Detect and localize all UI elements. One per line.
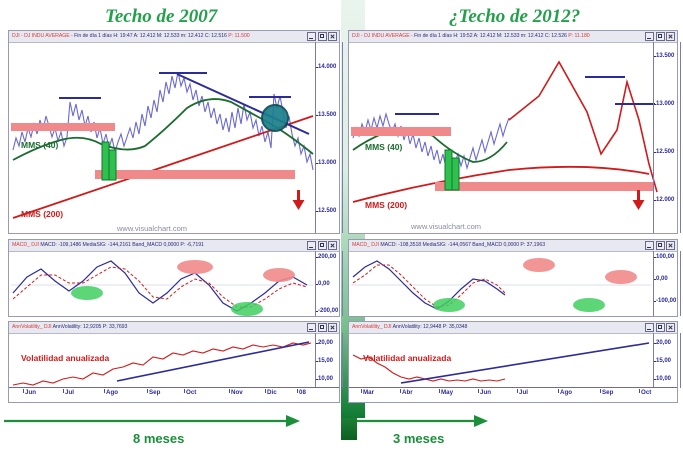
right-price-plot: MMS (40) MMS (200) www.visualchart.com 1… [349,42,677,233]
maximize-icon[interactable] [656,32,665,41]
left-macd-title-text: MACD_ DJI MACD: -109,1486 MediaSIG: -144… [12,240,204,251]
left-xtick: 08 [299,389,306,396]
left-macd-red-ellipse [263,268,295,282]
left-volume-spike-1 [102,142,109,180]
left-vol-yaxis[interactable]: 20,00 15,00 10,00 [315,333,343,388]
left-vol-ytick: 20,00 [318,340,333,346]
left-xtick: Jun [25,389,36,396]
left-vol-ytick: 15,00 [318,358,333,364]
minimize-icon[interactable] [307,241,316,250]
left-price-info: Fin de día 1 días H: 19:47 A: 12.412 M: … [74,33,227,39]
left-price-window-buttons [307,32,337,41]
right-xaxis[interactable]: Mar Abr May Jun Jul Ago Sep Oct [349,387,677,402]
left-price-title-text: DJI - DJ INDU AVERAGE - Fin de día 1 día… [12,31,250,42]
right-xtick: Oct [641,389,651,396]
left-xaxis[interactable]: Jun Jul Ago Sep Oct Nov Dic 08 [9,387,339,402]
left-watermark: www.visualchart.com [117,224,187,233]
right-xtick: Mar [363,389,374,396]
right-macd-window-buttons [645,241,675,250]
left-signal-circle [262,105,288,131]
left-price-ytick: 13.500 [318,112,336,118]
right-xtick: Sep [602,389,613,396]
right-vol-info: AnnVolatility: 12,9448 P: 35,0348 [393,324,468,330]
left-xtick: Dic [267,389,277,396]
left-macd-signal-line [13,267,307,307]
right-vol-label: Volatilidad anualizada [363,353,451,363]
maximize-icon[interactable] [318,323,327,332]
left-macd-window-buttons [307,241,337,250]
left-mms200-label: MMS (200) [21,209,63,219]
left-support-band-lower [95,170,295,179]
right-vol-ytick: 20,00 [656,340,671,346]
right-price-window-buttons [645,32,675,41]
right-xtick: Jun [480,389,491,396]
left-price-ytick: 13.000 [318,160,336,166]
right-watermark: www.visualchart.com [411,222,481,231]
right-price-panel: DJI - DJ INDU AVERAGE - Fin de día 1 día… [348,30,678,234]
right-price-ytick: 13.500 [656,53,674,59]
left-vol-title-text: AnnVolatility_ DJI AnnVolatility: 12,920… [12,322,127,333]
right-vol-symbol: AnnVolatility_ DJI [352,324,391,330]
left-macd-panel: MACD_ DJI MACD: -109,1486 MediaSIG: -144… [8,239,340,317]
maximize-icon[interactable] [656,241,665,250]
left-xtick: Sep [149,389,160,396]
right-volume-spike-1 [445,150,452,190]
right-mms40-label: MMS (40) [365,142,402,152]
close-icon[interactable] [666,241,675,250]
duration-right-label: 3 meses [393,431,444,446]
left-price-symbol: DJI - DJ INDU AVERAGE - [12,33,73,39]
right-price-ytick: 13.000 [656,101,674,107]
right-price-p: P: 11.180 [568,33,589,39]
maximize-icon[interactable] [318,32,327,41]
left-vol-symbol: AnnVolatility_ DJI [12,324,51,330]
left-xtick: Oct [186,389,196,396]
right-macd-signal-line [353,265,505,307]
right-macd-yaxis[interactable]: 100,00 0,00 -100,00 [653,251,681,316]
left-price-plot: MMS (40) MMS (200) www.visualchart.com 1… [9,42,339,233]
right-price-yaxis[interactable]: 13.500 13.000 12.500 12.000 [653,42,681,233]
left-price-panel: DJI - DJ INDU AVERAGE - Fin de día 1 día… [8,30,340,234]
maximize-icon[interactable] [656,323,665,332]
left-macd-ytick: -200,00 [318,308,338,314]
right-macd-red-ellipse [523,258,555,272]
right-macd-plot: 100,00 0,00 -100,00 [349,251,677,316]
close-icon[interactable] [328,323,337,332]
left-xtick: Jul [65,389,74,396]
minimize-icon[interactable] [645,241,654,250]
right-price-ytick: 12.500 [656,149,674,155]
left-vol-trend-line [117,342,309,381]
duration-arrow-left [4,415,300,427]
right-projection-line [509,62,657,192]
left-macd-info: MACD: -109,1486 MediaSIG: -144,2161 Band… [40,242,204,248]
left-price-yaxis[interactable]: 14.000 13.500 13.000 12.500 [315,42,343,233]
left-xtick: Ago [106,389,118,396]
right-macd-ytick: 100,00 [656,254,674,260]
left-price-svg [9,42,341,234]
right-support-band-upper [351,127,451,136]
right-macd-green-ellipse [433,298,465,312]
right-price-title-text: DJI - DJ INDU AVERAGE - Fin de día 1 día… [352,31,590,42]
right-support-band-lower [435,182,653,191]
right-xtick: Ago [560,389,572,396]
right-down-arrow [633,190,645,210]
right-vol-ytick: 10,00 [656,376,671,382]
right-macd-info: MACD: -108,3518 MediaSIG: -144,0567 Band… [380,242,545,248]
left-vol-window-buttons [307,323,337,332]
left-vol-label: Volatilidad anualizada [21,353,109,363]
left-price-ytick: 14.000 [318,64,336,70]
minimize-icon[interactable] [307,323,316,332]
close-icon[interactable] [666,323,675,332]
right-macd-symbol: MACD_ DJI [352,242,379,248]
right-macd-title-text: MACD_ DJI MACD: -108,3518 MediaSIG: -144… [352,240,545,251]
right-xtick: Abr [402,389,413,396]
left-price-ytick: 12.500 [318,208,336,214]
right-vol-ytick: 15,00 [656,358,671,364]
right-price-info: Fin de día 1 días H: 19:52 A: 12.412 M: … [414,33,567,39]
right-vol-window-buttons [645,323,675,332]
left-macd-ytick: 0,00 [318,281,330,287]
headline-left: Techo de 2007 [105,6,217,28]
left-support-band-upper [11,123,115,131]
close-icon[interactable] [328,241,337,250]
left-vol-line [13,343,311,385]
left-vol-info: AnnVolatility: 12,9205 P: 33,7693 [53,324,128,330]
duration-bar: 8 meses 3 meses [0,406,683,452]
left-macd-symbol: MACD_ DJI [12,242,39,248]
right-price-symbol: DJI - DJ INDU AVERAGE - [352,33,413,39]
left-macd-green-ellipse [71,286,103,300]
minimize-icon[interactable] [645,32,654,41]
close-icon[interactable] [666,32,675,41]
left-macd-red-ellipse [177,260,213,274]
left-macd-green-ellipse [231,302,263,316]
left-macd-plot: 200,00 0,00 -200,00 [9,251,339,316]
headline-right: ¿Techo de 2012? [449,6,580,28]
right-mms200-label: MMS (200) [365,200,407,210]
right-macd-green-ellipse [573,298,605,312]
right-xtick: May [441,389,453,396]
left-xtick: Nov [231,389,243,396]
left-volume-spike-2 [109,150,116,180]
right-macd-ytick: -100,00 [656,298,676,304]
right-xtick: Jul [519,389,528,396]
left-macd-line [13,261,307,311]
right-macd-svg [349,251,679,317]
maximize-icon[interactable] [318,241,327,250]
left-downtrend-line [177,74,309,134]
left-macd-svg [9,251,341,317]
duration-arrows-svg [0,406,683,452]
right-macd-ytick: 0,00 [656,276,668,282]
right-macd-panel: MACD_ DJI MACD: -108,3518 MediaSIG: -144… [348,239,678,317]
left-down-arrow [293,190,305,210]
screenshot-root: Techo de 2007 ¿Techo de 2012? DJI - DJ I… [0,0,683,452]
left-macd-yaxis[interactable]: 200,00 0,00 -200,00 [315,251,343,316]
close-icon[interactable] [328,32,337,41]
right-macd-red-ellipse [605,270,637,284]
left-vol-panel: AnnVolatility_ DJI AnnVolatility: 12,920… [8,321,340,403]
left-vol-ytick: 10,00 [318,376,333,382]
right-vol-yaxis[interactable]: 20,00 15,00 10,00 [653,333,681,388]
minimize-icon[interactable] [645,323,654,332]
left-price-p: P: 11.500 [228,33,249,39]
right-vol-plot: Volatilidad anualizada 20,00 15,00 10,00… [349,333,677,402]
left-macd-ytick: 200,00 [318,254,336,260]
minimize-icon[interactable] [307,32,316,41]
duration-arrow-right [357,415,488,427]
right-volume-spike-2 [452,158,459,190]
left-mms40-label: MMS (40) [21,140,58,150]
right-vol-title-text: AnnVolatility_ DJI AnnVolatility: 12,944… [352,322,467,333]
right-vol-panel: AnnVolatility_ DJI AnnVolatility: 12,944… [348,321,678,403]
duration-left-label: 8 meses [133,431,184,446]
right-vol-trend-line [401,343,649,383]
right-price-ytick: 12.000 [656,197,674,203]
left-vol-plot: Volatilidad anualizada 20,00 15,00 10,00… [9,333,339,402]
